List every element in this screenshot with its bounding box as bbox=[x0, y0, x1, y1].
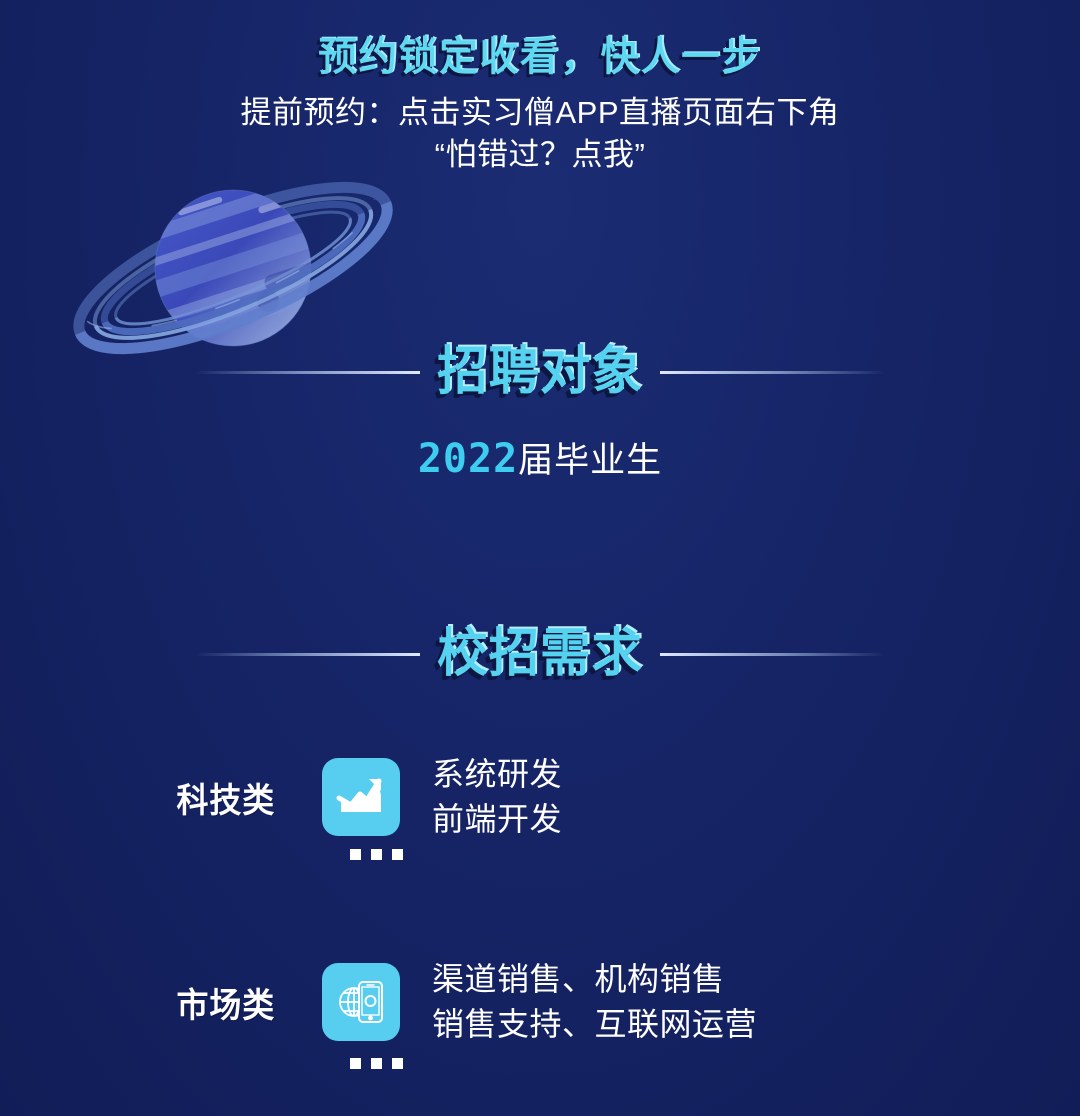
job-category-label: 市场类 bbox=[177, 978, 318, 1027]
globe-smartphone-icon bbox=[322, 963, 400, 1041]
job-more-indicator bbox=[350, 849, 403, 860]
header-subtitle: 提前预约：点击实习僧APP直播页面右下角 “怕错过？点我” bbox=[0, 92, 1080, 176]
heading-rule-left bbox=[195, 653, 420, 656]
header-block: 预约锁定收看，快人一步 提前预约：点击实习僧APP直播页面右下角 “怕错过？点我… bbox=[0, 36, 1080, 176]
job-category-row: 科技类 系统研发 前端开发 bbox=[172, 752, 562, 843]
job-item: 销售支持、互联网运营 bbox=[432, 1002, 757, 1047]
job-item: 系统研发 bbox=[432, 752, 562, 797]
section-title: 校招需求 bbox=[424, 628, 657, 680]
section-title: 招聘对象 bbox=[424, 346, 657, 398]
dot bbox=[371, 1058, 382, 1069]
recruitment-target-value: 2022届毕业生 bbox=[0, 432, 1080, 483]
job-more-indicator bbox=[350, 1058, 403, 1069]
chart-trending-up-icon bbox=[322, 758, 400, 836]
heading-rule-right bbox=[660, 371, 885, 374]
recruitment-poster: 预约锁定收看，快人一步 提前预约：点击实习僧APP直播页面右下角 “怕错过？点我… bbox=[0, 0, 1080, 1116]
saturn-planet-icon bbox=[30, 160, 460, 375]
dot bbox=[392, 849, 403, 860]
heading-rule-left bbox=[195, 371, 420, 374]
target-year: 2022 bbox=[418, 436, 518, 482]
header-subtitle-line-2: “怕错过？点我” bbox=[0, 134, 1080, 176]
job-items-list: 渠道销售、机构销售 销售支持、互联网运营 bbox=[432, 957, 757, 1048]
job-category-row: 市场类 渠道销售、机构销售 销售支持、互联网运营 bbox=[172, 957, 757, 1048]
page-title: 预约锁定收看，快人一步 bbox=[22, 36, 1059, 78]
section-heading-recruitment-target: 招聘对象 bbox=[0, 346, 1080, 398]
dot bbox=[350, 849, 361, 860]
job-items-list: 系统研发 前端开发 bbox=[432, 752, 562, 843]
target-label: 届毕业生 bbox=[518, 441, 662, 480]
header-subtitle-line-1: 提前预约：点击实习僧APP直播页面右下角 bbox=[0, 92, 1080, 134]
job-item: 渠道销售、机构销售 bbox=[432, 957, 757, 1002]
dot bbox=[350, 1058, 361, 1069]
section-heading-campus-demand: 校招需求 bbox=[0, 628, 1080, 680]
dot bbox=[371, 849, 382, 860]
dot bbox=[392, 1058, 403, 1069]
job-item: 前端开发 bbox=[432, 797, 562, 842]
heading-rule-right bbox=[660, 653, 885, 656]
job-category-label: 科技类 bbox=[177, 773, 318, 822]
